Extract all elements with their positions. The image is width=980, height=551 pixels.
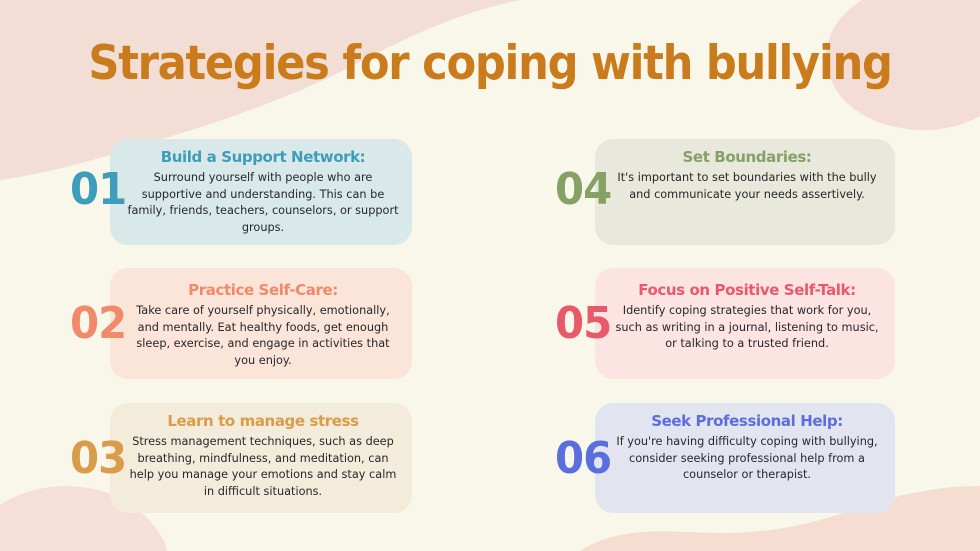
strategy-card-grid: 01 Build a Support Network: Surround you…: [0, 0, 980, 551]
card-content-01: Build a Support Network: Surround yourse…: [126, 148, 400, 237]
card-heading-03: Learn to manage stress: [126, 412, 400, 430]
card-heading-04: Set Boundaries:: [611, 148, 883, 166]
card-number-01: 01: [70, 168, 126, 212]
card-body-01: Surround yourself with people who are su…: [126, 170, 400, 237]
card-body-02: Take care of yourself physically, emotio…: [126, 303, 400, 370]
card-body-05: Identify coping strategies that work for…: [611, 303, 883, 353]
card-body-04: It's important to set boundaries with th…: [611, 170, 883, 203]
card-body-03: Stress management techniques, such as de…: [126, 434, 400, 501]
card-number-03: 03: [70, 437, 126, 481]
card-content-04: Set Boundaries: It's important to set bo…: [611, 148, 883, 203]
card-number-02: 02: [70, 302, 126, 346]
card-body-06: If you're having difficulty coping with …: [611, 434, 883, 484]
card-content-03: Learn to manage stress Stress management…: [126, 412, 400, 501]
infographic-slide: Strategies for coping with bullying 01 B…: [0, 0, 980, 551]
card-heading-06: Seek Professional Help:: [611, 412, 883, 430]
card-content-02: Practice Self-Care: Take care of yoursel…: [126, 281, 400, 370]
card-number-06: 06: [555, 437, 611, 481]
card-heading-01: Build a Support Network:: [126, 148, 400, 166]
card-content-05: Focus on Positive Self-Talk: Identify co…: [611, 281, 883, 353]
card-content-06: Seek Professional Help: If you're having…: [611, 412, 883, 484]
card-heading-02: Practice Self-Care:: [126, 281, 400, 299]
card-number-04: 04: [555, 168, 611, 212]
card-number-05: 05: [555, 302, 611, 346]
card-heading-05: Focus on Positive Self-Talk:: [611, 281, 883, 299]
